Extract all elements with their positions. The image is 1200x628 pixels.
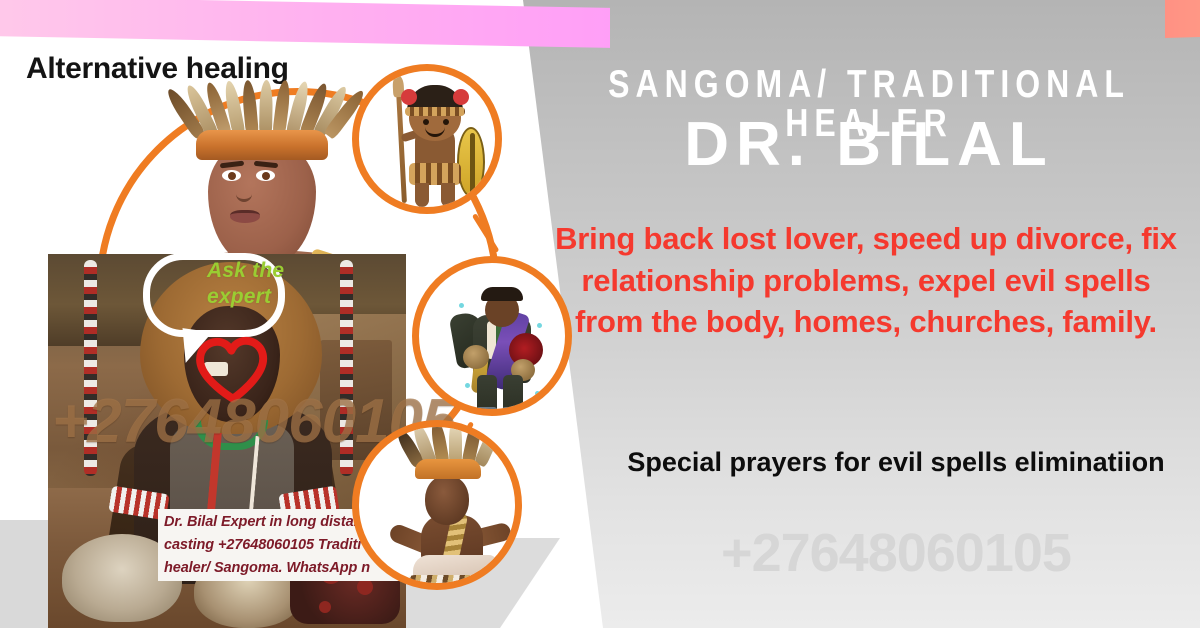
ask-the-expert-text: Ask the expert <box>207 258 327 309</box>
warrior-nose <box>236 186 252 202</box>
poster-canvas: Alternative healing <box>0 0 1200 628</box>
circle-zulu-warrior <box>352 64 502 214</box>
healer-cuff-left <box>476 407 497 416</box>
bottom-left-gray-strip <box>0 520 48 628</box>
warrior-kid-headband <box>405 107 465 116</box>
pink-accent-band <box>0 0 610 48</box>
dancer-crown-band <box>415 459 481 479</box>
dancer-head <box>425 475 469 525</box>
special-prayers-text: Special prayers for evil spells eliminat… <box>604 444 1188 481</box>
warrior-mouth <box>230 210 260 223</box>
sparkle-icon <box>459 303 464 308</box>
sparkle-icon <box>465 383 470 388</box>
warrior-kid-leg-left <box>415 183 429 207</box>
healer-hat <box>481 287 523 301</box>
feather-headdress-icon <box>192 74 338 136</box>
warrior-kid-eye-right <box>443 119 449 125</box>
warrior-eye-left <box>222 170 241 181</box>
contact-phone-number: +27648060105 <box>604 526 1188 580</box>
healer-leg-left <box>477 375 497 416</box>
healer-gourd-left <box>463 345 489 369</box>
healer-name-title: DR. BILAL <box>560 112 1178 179</box>
services-text: Bring back lost lover, speed up divorce,… <box>548 218 1184 343</box>
warrior-kid-leg-right <box>441 183 455 207</box>
healer-shoe-right <box>501 415 525 416</box>
warrior-kid-eye-left <box>423 119 429 125</box>
shield-icon <box>457 127 485 197</box>
warrior-eye-right <box>256 170 275 181</box>
sparkle-icon <box>535 391 540 396</box>
healer-leg-right <box>503 375 523 416</box>
warrior-headband <box>196 130 328 160</box>
warrior-kid-skirt <box>409 163 461 185</box>
sparkle-icon <box>537 323 542 328</box>
healer-shoe-left <box>474 415 498 416</box>
circle-sangoma-dancer <box>352 420 522 590</box>
orange-accent-band <box>1165 0 1200 38</box>
healer-cuff-right <box>502 407 523 416</box>
